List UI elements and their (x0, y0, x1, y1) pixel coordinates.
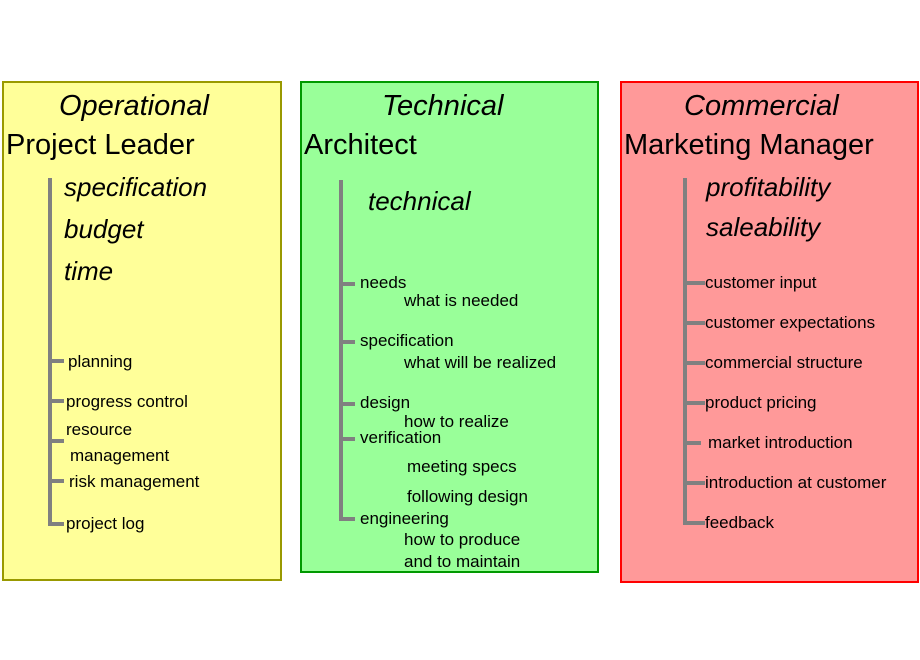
panel-technical-item-0-sub-0: what is needed (404, 292, 518, 309)
panel-technical: Technical Architect technical needs what… (300, 81, 599, 573)
panel-operational-tick-2 (48, 439, 64, 443)
panel-technical-item-3: verification (360, 429, 441, 446)
panel-commercial-keyword-0: profitability (706, 174, 830, 200)
panel-technical-item-1-sub-0: what will be realized (404, 354, 556, 371)
panel-technical-tick-2 (339, 402, 355, 406)
panel-commercial-tick-6 (683, 521, 705, 525)
panel-technical-bracket-stem (339, 180, 343, 521)
panel-operational-bracket-stem (48, 178, 52, 526)
panel-operational-item-2-sub-0: management (70, 447, 169, 464)
panel-operational-keyword-0: specification (64, 174, 207, 200)
panel-operational-category: Operational (59, 92, 209, 121)
panel-operational-item-1: progress control (66, 393, 188, 410)
panel-technical-item-4-sub-1: and to maintain (404, 553, 520, 570)
panel-commercial-tick-3 (683, 401, 705, 405)
panel-commercial-tick-2 (683, 361, 705, 365)
panel-operational-keyword-1: budget (64, 216, 144, 242)
panel-operational-item-4: project log (66, 515, 144, 532)
panel-operational-tick-0 (48, 359, 64, 363)
panel-operational-item-2: resource (66, 421, 132, 438)
panel-commercial-keyword-1: saleability (706, 214, 820, 240)
panel-commercial-item-2: commercial structure (705, 354, 863, 371)
panel-operational-item-3: risk management (69, 473, 199, 490)
panel-operational-tick-3 (48, 479, 64, 483)
panel-technical-item-4: engineering (360, 510, 449, 527)
panel-commercial-category: Commercial (684, 92, 839, 121)
panel-operational: Operational Project Leader specification… (2, 81, 282, 581)
panel-commercial-item-6: feedback (705, 514, 774, 531)
panel-technical-tick-3 (339, 437, 355, 441)
panel-technical-tick-0 (339, 282, 355, 286)
panel-commercial-tick-4 (683, 441, 701, 445)
panel-commercial-item-4: market introduction (708, 434, 853, 451)
panel-commercial-item-0: customer input (705, 274, 817, 291)
panel-technical-item-3-sub-0: meeting specs (407, 458, 517, 475)
panel-commercial-item-3: product pricing (705, 394, 817, 411)
panel-commercial-tick-5 (683, 481, 705, 485)
panel-commercial-tick-1 (683, 321, 705, 325)
panel-commercial: Commercial Marketing Manager profitabili… (620, 81, 919, 583)
panel-commercial-item-1: customer expectations (705, 314, 875, 331)
panel-commercial-tick-0 (683, 281, 705, 285)
panel-technical-tick-1 (339, 340, 355, 344)
panel-operational-role: Project Leader (6, 131, 195, 160)
panel-technical-tick-4 (339, 517, 355, 521)
panel-technical-category: Technical (382, 92, 503, 121)
panel-technical-role: Architect (304, 131, 417, 160)
panel-commercial-item-5: introduction at customer (705, 474, 886, 491)
panel-technical-item-2: design (360, 394, 410, 411)
panel-commercial-bracket-stem (683, 178, 687, 525)
panel-technical-item-3-sub-1: following design (407, 488, 528, 505)
panel-operational-tick-4 (48, 522, 64, 526)
panel-operational-item-0: planning (68, 353, 132, 370)
panel-technical-item-4-sub-0: how to produce (404, 531, 520, 548)
panel-technical-item-1: specification (360, 332, 454, 349)
panel-operational-tick-1 (48, 399, 64, 403)
panel-commercial-role: Marketing Manager (624, 131, 874, 160)
panel-technical-keyword-0: technical (368, 188, 471, 214)
panel-operational-keyword-2: time (64, 258, 113, 284)
panel-technical-item-0: needs (360, 274, 406, 291)
